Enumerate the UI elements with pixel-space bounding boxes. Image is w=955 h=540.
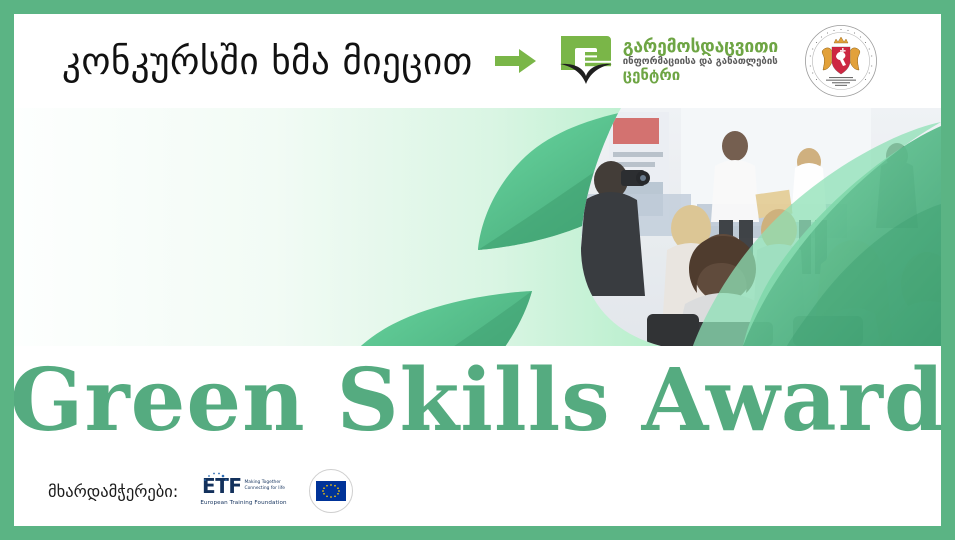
eu-stars-icon	[316, 481, 346, 501]
award-title: Green Skills Award	[14, 358, 941, 444]
title-band: Green Skills Award	[14, 346, 941, 456]
poster-frame: კონკურსში ხმა მიეცით გარემოსდაცვითი ინფო…	[0, 0, 955, 540]
eiec-logo: გარემოსდაცვითი ინფორმაციისა და განათლები…	[557, 32, 778, 90]
etf-stars-icon	[202, 471, 228, 485]
georgia-ministry-coat-of-arms-icon	[804, 24, 878, 98]
open-book-leaf-logo-icon	[557, 32, 615, 90]
arrow-right-icon	[495, 47, 537, 75]
graphic-band	[14, 108, 941, 346]
footer-band: მხარდამჭერები: ETF Making TogetherConnec…	[14, 456, 941, 526]
eiec-logo-words: გარემოსდაცვითი ინფორმაციისა და განათლები…	[623, 39, 778, 84]
etf-logo-row: ETF Making TogetherConnecting for life	[202, 476, 285, 496]
eiec-logo-line3: ცენტრი	[623, 68, 778, 83]
supporters-label: მხარდამჭერები:	[48, 482, 178, 501]
page-title: კონკურსში ხმა მიეცით	[62, 43, 473, 80]
etf-tagline: Making TogetherConnecting for life	[245, 480, 285, 491]
etf-subtitle: European Training Foundation	[200, 500, 286, 506]
header-band: კონკურსში ხმა მიეცით გარემოსდაცვითი ინფო…	[14, 14, 941, 108]
eiec-logo-line1: გარემოსდაცვითი	[623, 39, 778, 57]
etf-logo: ETF Making TogetherConnecting for life E…	[200, 476, 286, 506]
eu-flag-rect	[316, 481, 346, 501]
poster-inner: კონკურსში ხმა მიეცით გარემოსდაცვითი ინფო…	[14, 14, 941, 526]
conference-photo	[461, 108, 941, 346]
european-union-flag-icon	[309, 469, 353, 513]
